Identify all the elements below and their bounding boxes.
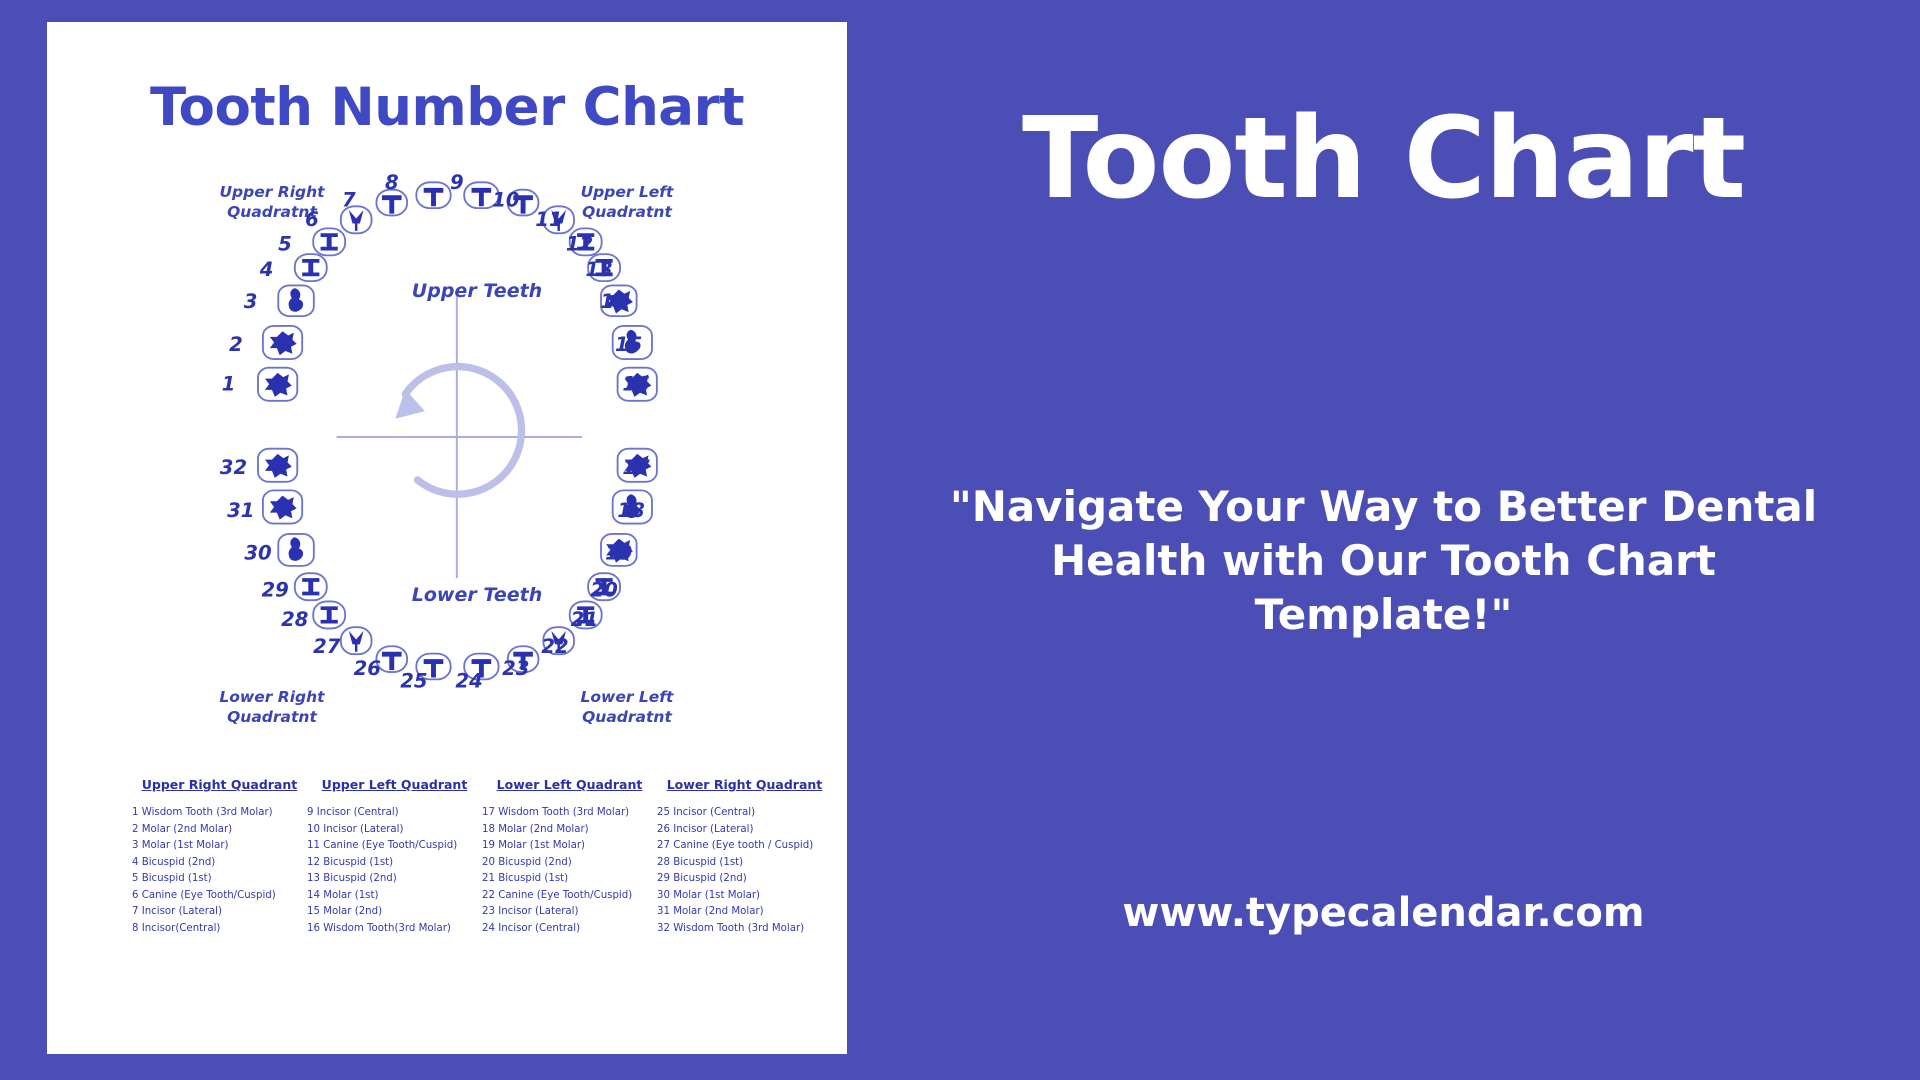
rotation-arrow-icon bbox=[405, 367, 521, 495]
promo-website-url[interactable]: www.typecalendar.com bbox=[847, 890, 1920, 936]
rotation-arrow-head-icon bbox=[395, 389, 424, 418]
legend-item: 16 Wisdom Tooth(3rd Molar) bbox=[307, 921, 482, 938]
legend-column-heading: Upper Right Quadrant bbox=[132, 777, 307, 792]
legend-item: 29 Bicuspid (2nd) bbox=[657, 871, 832, 888]
legend-column: Upper Left Quadrant9 Incisor (Central)10… bbox=[307, 777, 482, 937]
legend-item: 7 Incisor (Lateral) bbox=[132, 904, 307, 921]
legend-column: Upper Right Quadrant1 Wisdom Tooth (3rd … bbox=[132, 777, 307, 937]
legend-item: 24 Incisor (Central) bbox=[482, 921, 657, 938]
tooth-number-label: 19 bbox=[605, 542, 632, 565]
legend-item: 12 Bicuspid (1st) bbox=[307, 855, 482, 872]
tooth-number-label: 30 bbox=[244, 542, 271, 565]
tooth-number-label: 29 bbox=[262, 579, 289, 602]
legend-item: 27 Canine (Eye tooth / Cuspid) bbox=[657, 838, 832, 855]
legend-column: Lower Left Quadrant17 Wisdom Tooth (3rd … bbox=[482, 777, 657, 937]
legend-item: 3 Molar (1st Molar) bbox=[132, 838, 307, 855]
tooth-29[interactable] bbox=[295, 573, 327, 600]
tooth-number-label: 26 bbox=[354, 657, 381, 680]
legend-item: 10 Incisor (Lateral) bbox=[307, 822, 482, 839]
legend-item: 26 Incisor (Lateral) bbox=[657, 822, 832, 839]
tooth-26[interactable] bbox=[376, 646, 407, 672]
tooth-28[interactable] bbox=[313, 601, 345, 628]
tooth-chart-document: Tooth Number Chart Upper Right Quadratnt… bbox=[47, 22, 847, 1054]
tooth-2[interactable] bbox=[263, 326, 302, 359]
legend-item: 18 Molar (2nd Molar) bbox=[482, 822, 657, 839]
tooth-number-label: 18 bbox=[617, 499, 644, 522]
legend-item: 22 Canine (Eye Tooth/Cuspid) bbox=[482, 888, 657, 905]
tooth-number-label: 7 bbox=[342, 188, 356, 211]
tooth-30[interactable] bbox=[278, 534, 314, 566]
tooth-number-label: 5 bbox=[278, 232, 292, 255]
tooth-number-label: 16 bbox=[622, 372, 649, 395]
center-guide-lines bbox=[337, 296, 582, 578]
tooth-arch-diagram: 1234567891011121314151617181920212223242… bbox=[177, 172, 717, 702]
tooth-number-label: 22 bbox=[541, 635, 568, 658]
legend-item: 1 Wisdom Tooth (3rd Molar) bbox=[132, 805, 307, 822]
tooth-number-label: 11 bbox=[535, 208, 562, 231]
tooth-number-label: 8 bbox=[385, 172, 399, 194]
tooth-number-label: 6 bbox=[305, 208, 319, 231]
legend-column-heading: Lower Right Quadrant bbox=[657, 777, 832, 792]
tooth-number-label: 9 bbox=[450, 172, 464, 194]
legend-item: 28 Bicuspid (1st) bbox=[657, 855, 832, 872]
tooth-number-label: 24 bbox=[455, 669, 482, 692]
legend-item: 23 Incisor (Lateral) bbox=[482, 904, 657, 921]
legend-item: 13 Bicuspid (2nd) bbox=[307, 871, 482, 888]
legend-column: Lower Right Quadrant25 Incisor (Central)… bbox=[657, 777, 832, 937]
tooth-number-label: 15 bbox=[615, 333, 642, 356]
tooth-number-label: 27 bbox=[313, 635, 341, 658]
legend-item: 14 Molar (1st) bbox=[307, 888, 482, 905]
legend-column-heading: Lower Left Quadrant bbox=[482, 777, 657, 792]
quadrant-legend: Upper Right Quadrant1 Wisdom Tooth (3rd … bbox=[132, 777, 832, 937]
tooth-8[interactable] bbox=[416, 182, 450, 208]
legend-item: 11 Canine (Eye Tooth/Cuspid) bbox=[307, 838, 482, 855]
legend-item: 6 Canine (Eye Tooth/Cuspid) bbox=[132, 888, 307, 905]
tooth-number-label: 20 bbox=[590, 579, 617, 602]
tooth-1[interactable] bbox=[258, 368, 297, 401]
legend-item: 25 Incisor (Central) bbox=[657, 805, 832, 822]
tooth-5[interactable] bbox=[313, 228, 345, 255]
tooth-3[interactable] bbox=[278, 285, 314, 316]
tooth-number-label: 32 bbox=[220, 456, 247, 479]
legend-item: 8 Incisor(Central) bbox=[132, 921, 307, 938]
promo-tagline: "Navigate Your Way to Better Dental Heal… bbox=[917, 480, 1850, 641]
tooth-number-label: 21 bbox=[571, 608, 598, 631]
legend-item: 20 Bicuspid (2nd) bbox=[482, 855, 657, 872]
tooth-number-label: 1 bbox=[222, 372, 236, 395]
tooth-number-labels: 1234567891011121314151617181920212223242… bbox=[220, 172, 650, 692]
tooth-number-label: 23 bbox=[502, 657, 529, 680]
legend-item: 31 Molar (2nd Molar) bbox=[657, 904, 832, 921]
tooth-number-label: 17 bbox=[622, 456, 650, 479]
tooth-27[interactable] bbox=[341, 627, 372, 654]
tooth-number-label: 28 bbox=[281, 608, 308, 631]
tooth-31[interactable] bbox=[263, 490, 302, 523]
tooth-number-label: 2 bbox=[229, 333, 243, 356]
legend-item: 15 Molar (2nd) bbox=[307, 904, 482, 921]
tooth-32[interactable] bbox=[258, 449, 297, 482]
promo-panel: Tooth Chart "Navigate Your Way to Better… bbox=[847, 0, 1920, 1080]
legend-item: 5 Bicuspid (1st) bbox=[132, 871, 307, 888]
promo-title: Tooth Chart bbox=[847, 103, 1920, 215]
tooth-number-label: 25 bbox=[400, 669, 427, 692]
tooth-number-label: 31 bbox=[227, 499, 254, 522]
legend-item: 19 Molar (1st Molar) bbox=[482, 838, 657, 855]
legend-column-heading: Upper Left Quadrant bbox=[307, 777, 482, 792]
legend-item: 32 Wisdom Tooth (3rd Molar) bbox=[657, 921, 832, 938]
tooth-number-label: 12 bbox=[566, 232, 593, 255]
tooth-number-label: 4 bbox=[259, 258, 274, 281]
legend-item: 17 Wisdom Tooth (3rd Molar) bbox=[482, 805, 657, 822]
legend-item: 4 Bicuspid (2nd) bbox=[132, 855, 307, 872]
page-title: Tooth Number Chart bbox=[47, 77, 847, 138]
tooth-number-label: 3 bbox=[244, 290, 258, 313]
tooth-number-label: 13 bbox=[586, 258, 613, 281]
legend-item: 21 Bicuspid (1st) bbox=[482, 871, 657, 888]
tooth-number-label: 10 bbox=[492, 188, 519, 211]
tooth-4[interactable] bbox=[295, 254, 327, 281]
legend-item: 9 Incisor (Central) bbox=[307, 805, 482, 822]
legend-item: 30 Molar (1st Molar) bbox=[657, 888, 832, 905]
tooth-number-label: 14 bbox=[600, 290, 627, 313]
legend-item: 2 Molar (2nd Molar) bbox=[132, 822, 307, 839]
